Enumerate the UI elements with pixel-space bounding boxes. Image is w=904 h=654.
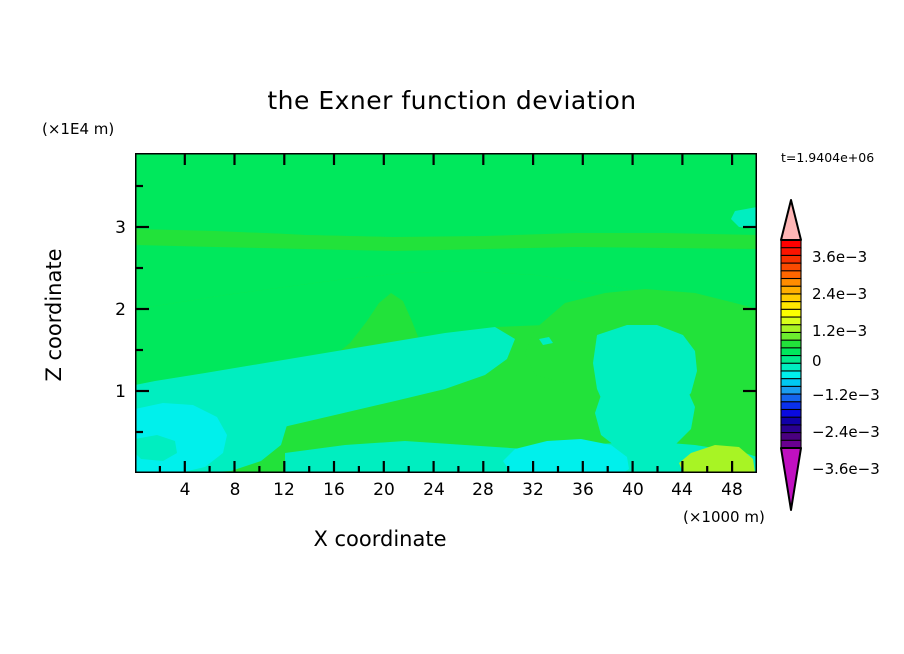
x-axis-unit-label: (×1000 m): [683, 508, 765, 526]
x-tick-label: 24: [414, 480, 454, 500]
x-tick-label: 12: [264, 480, 304, 500]
colorbar-band: [781, 294, 801, 302]
y-tick-label: 3: [96, 218, 126, 238]
colorbar-band: [781, 279, 801, 287]
colorbar-tick-label: 0: [812, 352, 822, 370]
colorbar-tick-label: −2.4e−3: [812, 423, 880, 441]
colorbar-band: [781, 255, 801, 263]
colorbar-band: [781, 263, 801, 271]
colorbar-tick-label: 1.2e−3: [812, 322, 867, 340]
x-axis-title: X coordinate: [0, 527, 760, 551]
colorbar-band: [781, 425, 801, 433]
x-tick-label: 16: [314, 480, 354, 500]
colorbar-band: [781, 433, 801, 441]
colorbar-band: [781, 248, 801, 256]
colorbar-tick-label: −1.2e−3: [812, 386, 880, 404]
colorbar-band: [781, 340, 801, 348]
colorbar-band: [781, 302, 801, 310]
x-tick-label: 40: [613, 480, 653, 500]
colorbar-band: [781, 286, 801, 294]
colorbar-tick-label: 3.6e−3: [812, 248, 867, 266]
x-tick-label: 36: [563, 480, 603, 500]
colorbar-band: [781, 379, 801, 387]
colorbar-band: [781, 386, 801, 394]
colorbar-band: [781, 402, 801, 410]
x-tick-label: 8: [215, 480, 255, 500]
axis-ticks: [135, 153, 757, 473]
colorbar-tick-label: 2.4e−3: [812, 285, 867, 303]
colorbar-band: [781, 371, 801, 379]
colorbar-band: [781, 363, 801, 371]
colorbar: [775, 196, 815, 516]
x-tick-label: 4: [165, 480, 205, 500]
colorbar-over-arrow: [781, 200, 801, 240]
colorbar-band: [781, 356, 801, 364]
colorbar-under-arrow: [781, 448, 801, 510]
colorbar-band: [781, 309, 801, 317]
x-tick-label: 44: [662, 480, 702, 500]
colorbar-band: [781, 271, 801, 279]
colorbar-band: [781, 394, 801, 402]
colorbar-band: [781, 240, 801, 248]
x-tick-label: 32: [513, 480, 553, 500]
colorbar-band: [781, 332, 801, 340]
colorbar-band: [781, 409, 801, 417]
y-axis-unit-label: (×1E4 m): [42, 120, 114, 138]
colorbar-band: [781, 417, 801, 425]
y-tick-label: 2: [96, 300, 126, 320]
x-tick-label: 48: [712, 480, 752, 500]
colorbar-band: [781, 325, 801, 333]
colorbar-band: [781, 348, 801, 356]
colorbar-tick-label: −3.6e−3: [812, 460, 880, 478]
figure-root: the Exner function deviation (×1E4 m) (×…: [0, 0, 904, 654]
y-axis-title: Z coordinate: [42, 185, 66, 445]
x-tick-label: 20: [364, 480, 404, 500]
x-tick-label: 28: [463, 480, 503, 500]
colorbar-band: [781, 317, 801, 325]
timestamp-annotation: t=1.9404e+06: [781, 150, 874, 165]
page-title: the Exner function deviation: [0, 86, 904, 115]
y-tick-label: 1: [96, 382, 126, 402]
